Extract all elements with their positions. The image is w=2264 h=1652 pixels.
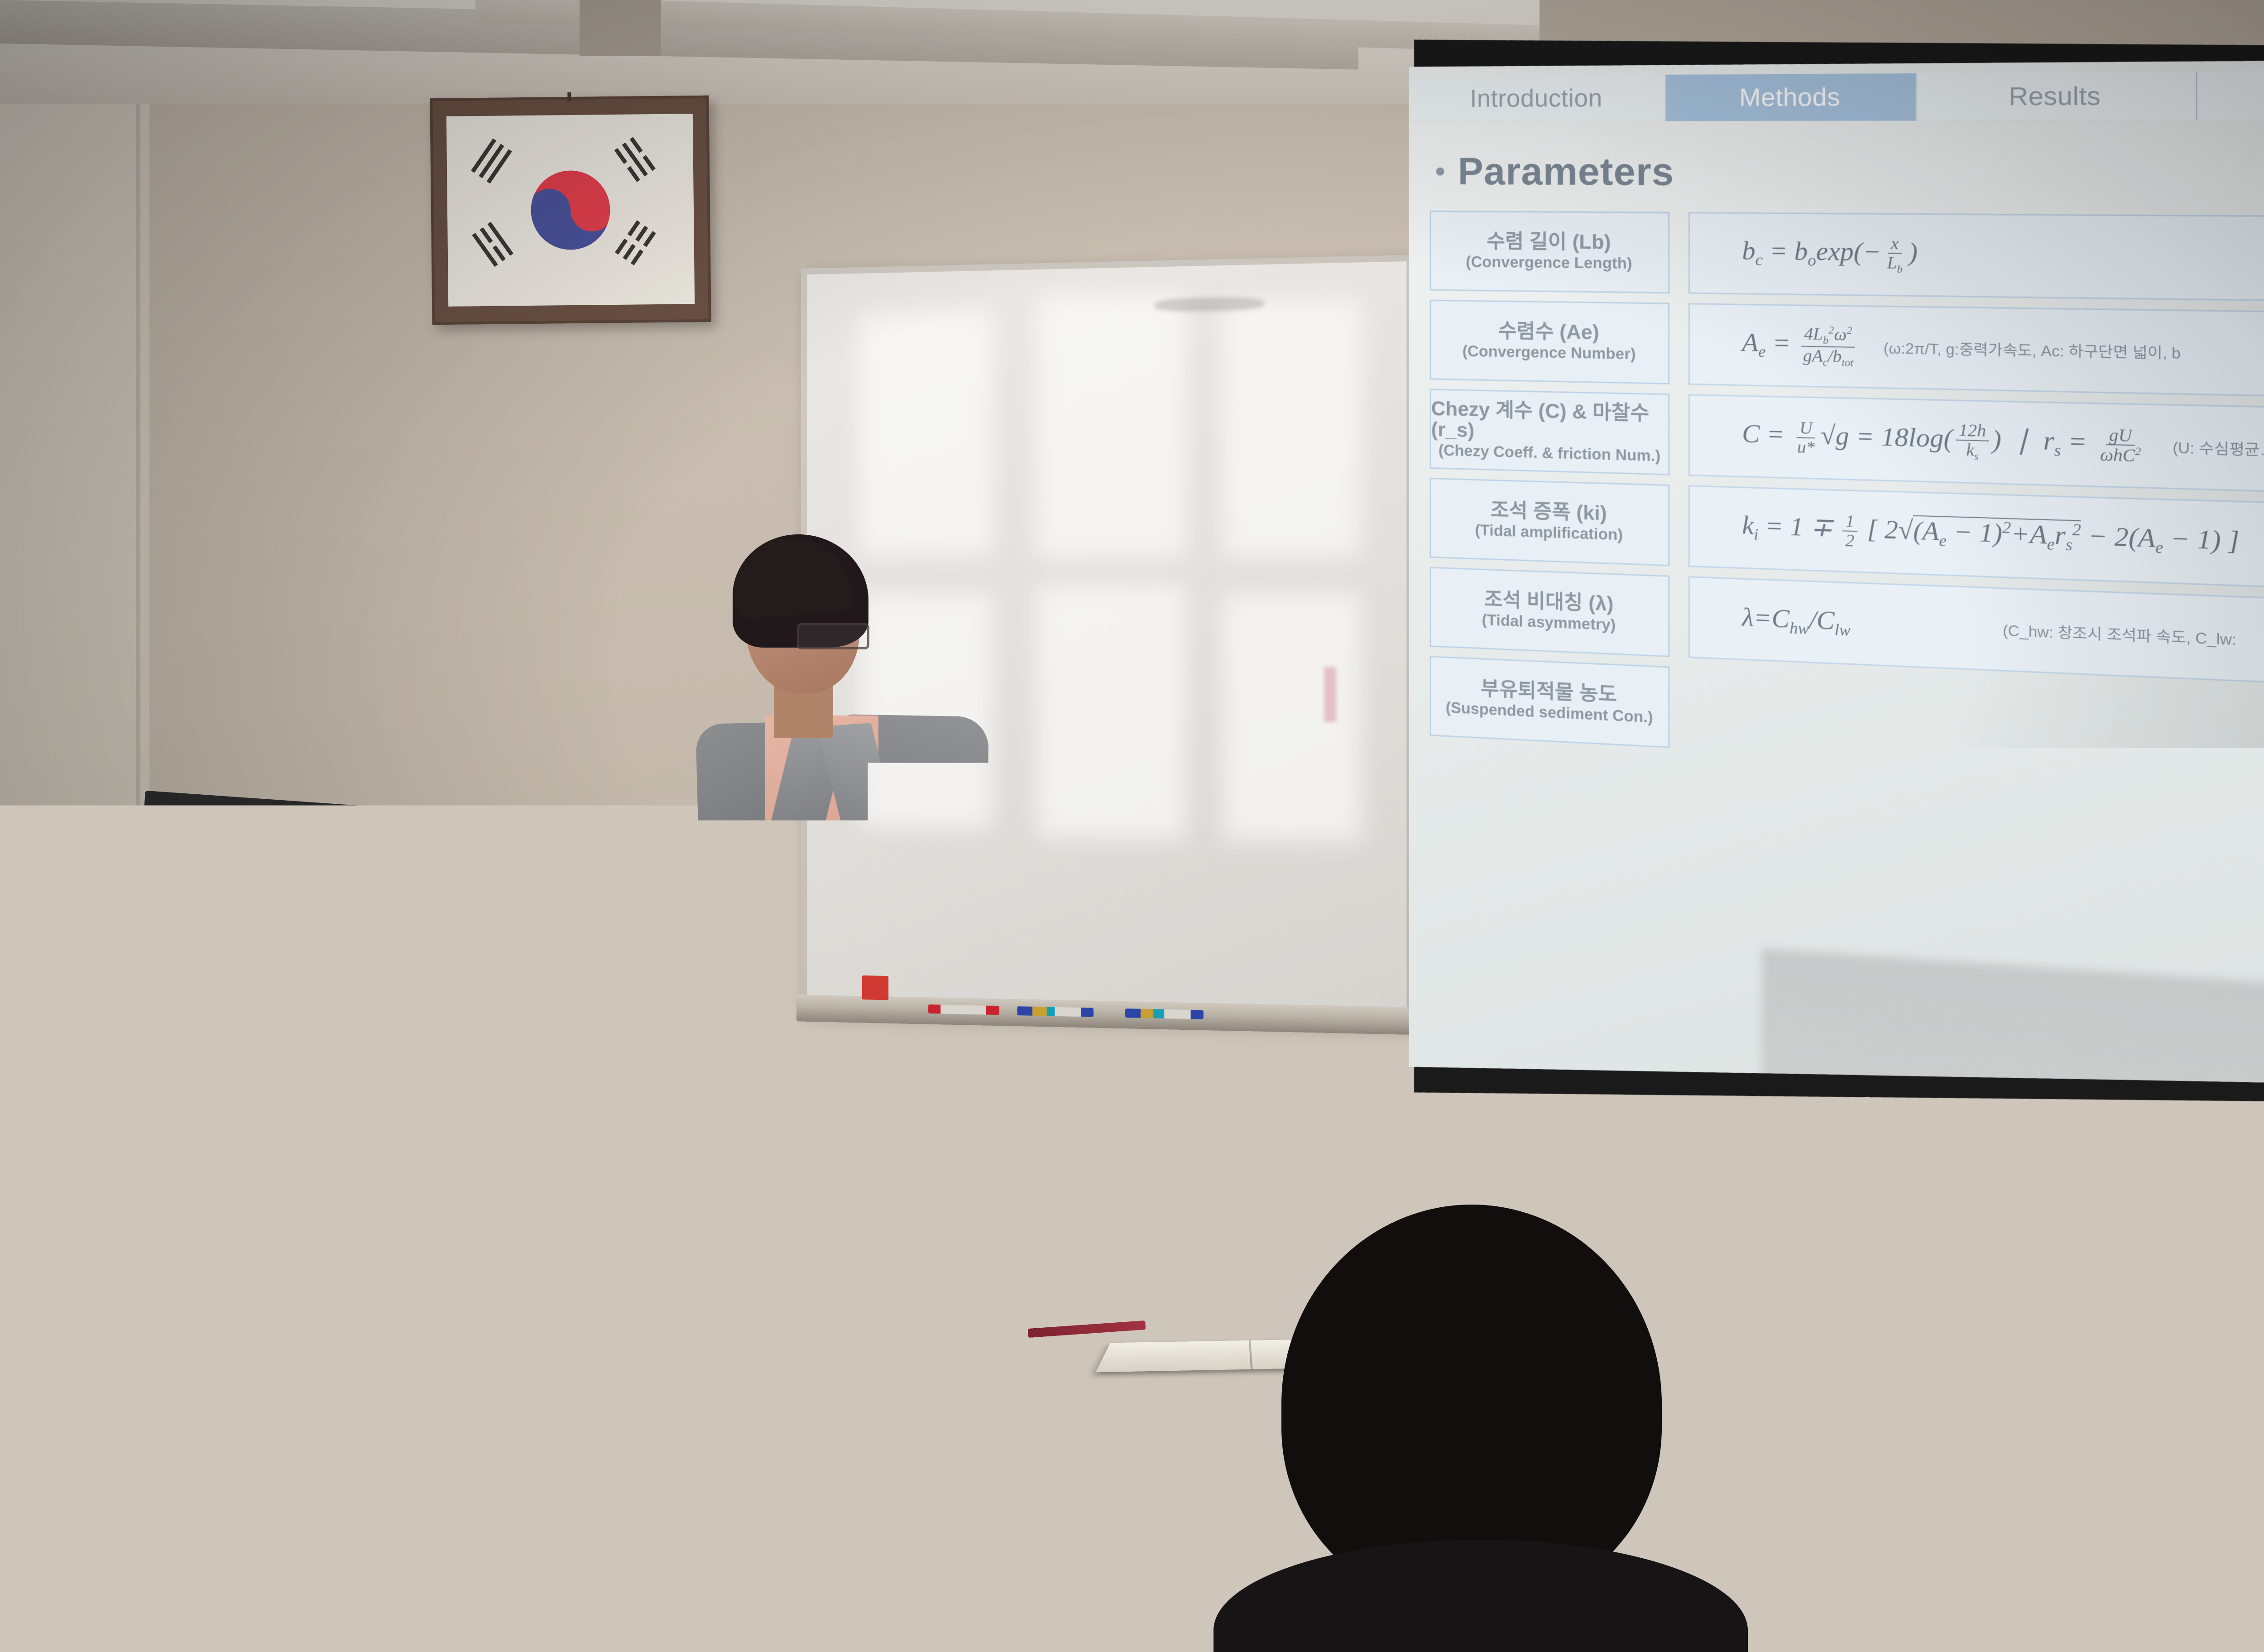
trigram-ri — [472, 222, 513, 267]
equation-tidal-amplification: ki = 1 ∓ 12 [ 2√(Ae − 1)2+Aers2 − 2(Ae −… — [1742, 509, 2239, 563]
equation-chezy-friction: C = Uu*√g = 18log(12hks) ∣ rs = gUωhC2 — [1742, 416, 2147, 466]
trigram-geon — [471, 139, 512, 184]
bottle-cap-icon — [8, 1090, 26, 1101]
param-equation-cell — [1688, 667, 2264, 793]
presentation-slide: Introduction Methods Results C Paramet — [1409, 53, 2264, 1117]
param-name-en: (Tidal amplification) — [1475, 522, 1622, 544]
picture-hook-icon — [567, 92, 571, 101]
presenter-arm-right — [889, 858, 988, 1090]
glasses-icon — [557, 1073, 616, 1114]
param-name-cell: Chezy 계수 (C) & 마찰수 (r_s) (Chezy Coeff. &… — [1430, 389, 1670, 475]
param-name-kr: 조석 비대칭 (λ) — [1484, 589, 1614, 615]
glasses-icon — [797, 623, 869, 649]
slide-tab-bar: Introduction Methods Results C — [1409, 69, 2264, 121]
equation-tidal-asymmetry: λ=Chw/Clw — [1742, 602, 1851, 640]
tab-introduction[interactable]: Introduction — [1409, 75, 1667, 121]
tab-introduction-label: Introduction — [1470, 84, 1602, 113]
flag-field — [446, 114, 695, 307]
ceiling-soffit — [580, 0, 661, 56]
param-name-en: (Convergence Length) — [1466, 254, 1632, 273]
tab-methods-label: Methods — [1739, 82, 1840, 112]
screen-surface: Introduction Methods Results C Paramet — [1409, 10, 2264, 1117]
bullet-dot-icon — [1436, 167, 1444, 175]
param-name-kr: 수렴수 (Ae) — [1498, 321, 1599, 343]
param-name-en: (Tidal asymmetry) — [1482, 612, 1616, 634]
seminar-room-photo: Introduction Methods Results C Paramet — [0, 0, 2264, 1652]
equation-note: (ω:2π/T, g:중력가속도, Ac: 하구단면 넓이, b — [1884, 336, 2181, 363]
tab-conclusion[interactable]: C — [2197, 69, 2264, 120]
param-name-en: (Convergence Number) — [1463, 343, 1636, 364]
equation-note: (U: 수심평균… k_s: 해저면 — [2173, 436, 2264, 463]
param-name-cell: 수렴수 (Ae) (Convergence Number) — [1430, 300, 1670, 384]
desk-label-sticker — [1159, 1463, 1223, 1558]
param-equation-cell: Ae = 4Lb2ω2gAc/btot (ω:2π/T, g:중력가속도, Ac… — [1688, 303, 2264, 403]
slide-heading: Parameters — [1436, 149, 1674, 195]
presenter — [706, 534, 1014, 1209]
trigram-gam — [614, 137, 656, 182]
framed-korean-flag — [430, 96, 711, 325]
marker-blue-2 — [1125, 1008, 1204, 1019]
param-equation-cell: bc = boexp(−xLb) — [1688, 212, 2264, 305]
param-name-cell: 부유퇴적물 농도 (Suspended sediment Con.) — [1430, 656, 1670, 748]
water-bottle-1 — [5, 1100, 30, 1186]
presenter-arm-left — [702, 849, 801, 1107]
tab-methods[interactable]: Methods — [1667, 73, 1917, 121]
param-name-en: (Chezy Coeff. & friction Num.) — [1439, 442, 1661, 466]
param-name-kr: Chezy 계수 (C) & 마찰수 (r_s) — [1431, 399, 1669, 447]
slide-title: Parameters — [1458, 149, 1674, 195]
param-equation-cell: C = Uu*√g = 18log(12hks) ∣ rs = gUωhC2 (… — [1688, 394, 2264, 500]
wall-left — [0, 54, 149, 983]
equation-note: (C_hw: 창조시 조석파 속도, C_lw: — [2003, 619, 2236, 650]
taeguk-icon — [527, 167, 614, 254]
param-name-cell: 조석 비대칭 (λ) (Tidal asymmetry) — [1430, 567, 1670, 657]
param-name-en: (Suspended sediment Con.) — [1446, 700, 1653, 727]
wall-notice-card — [2128, 1263, 2264, 1295]
equation-convergence-length: bc = boexp(−xLb) — [1742, 234, 1918, 275]
water-bottle-2 — [36, 1119, 62, 1186]
trigram-gon — [615, 220, 656, 265]
chair-mid-right — [1766, 1304, 1974, 1458]
param-name-cell: 수렴 길이 (Lb) (Convergence Length) — [1430, 211, 1670, 293]
table-row: 수렴 길이 (Lb) (Convergence Length) bc = boe… — [1430, 211, 2264, 305]
equation-convergence-number: Ae = 4Lb2ω2gAc/btot — [1742, 323, 1859, 369]
projection-screen: Introduction Methods Results C Paramet — [1390, 0, 2264, 1145]
param-name-kr: 조석 증폭 (ki) — [1491, 499, 1607, 524]
desk-right-near — [1961, 1543, 2264, 1609]
param-name-kr: 수렴 길이 (Lb) — [1487, 231, 1611, 253]
table-row: 수렴수 (Ae) (Convergence Number) Ae = 4Lb2ω… — [1430, 300, 2264, 403]
marker-blue-1 — [1017, 1006, 1094, 1017]
tab-results[interactable]: Results — [1916, 72, 2197, 120]
tab-results-label: Results — [2009, 82, 2101, 111]
param-name-cell: 조석 증폭 (ki) (Tidal amplification) — [1430, 478, 1670, 566]
ceiling — [0, 0, 1540, 104]
parameter-table: 수렴 길이 (Lb) (Convergence Length) bc = boe… — [1430, 211, 2264, 803]
